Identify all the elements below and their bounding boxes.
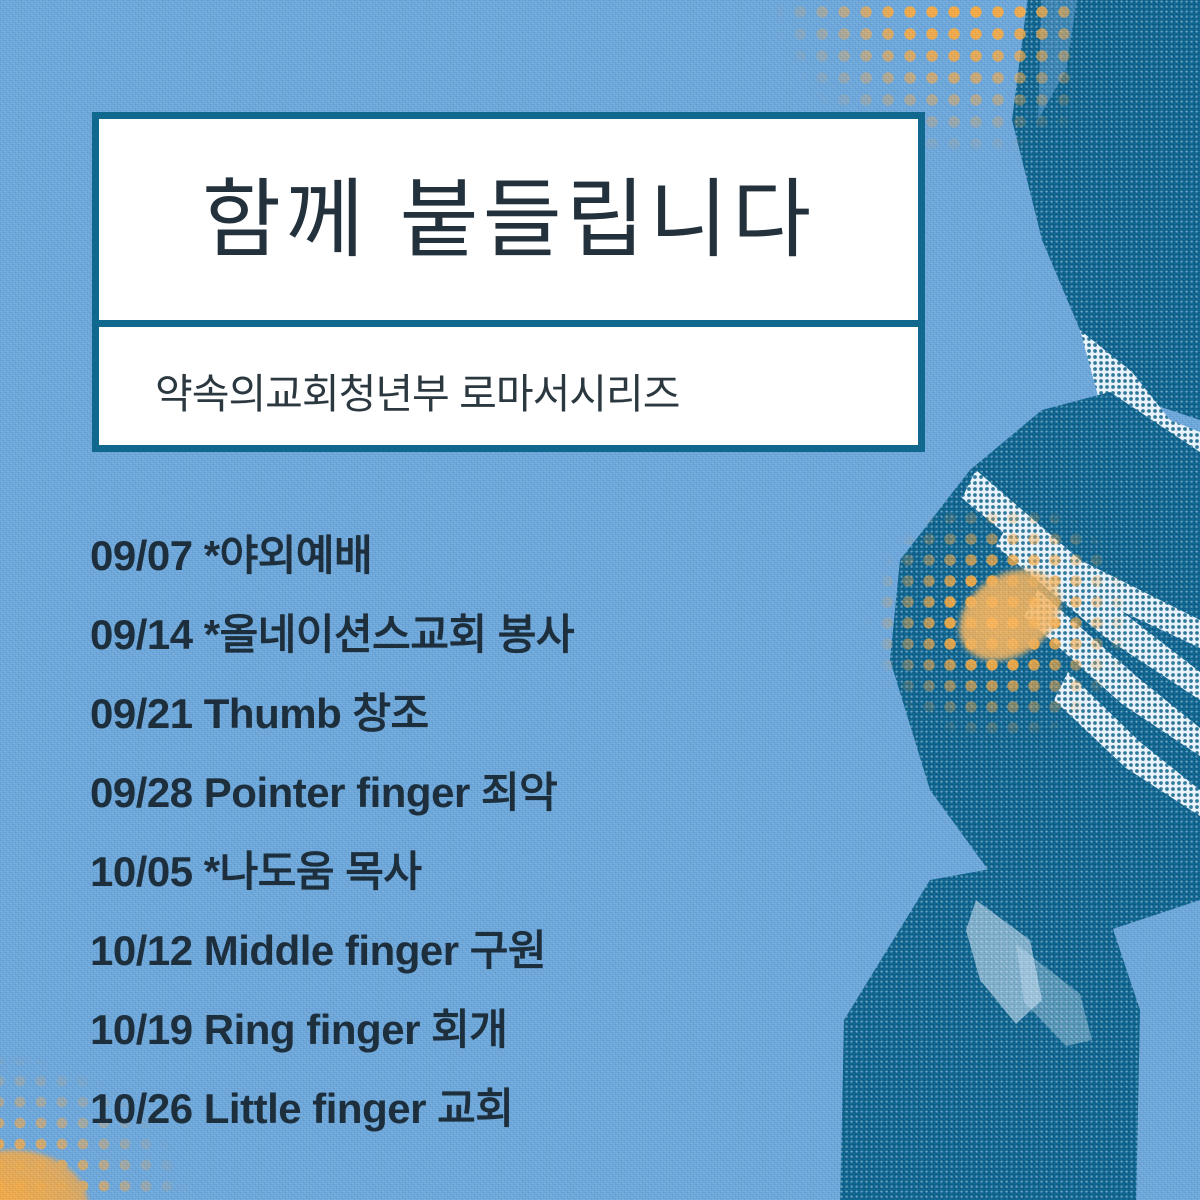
list-item: 10/19 Ring finger 회개 — [90, 990, 850, 1069]
list-item: 10/05 *나도움 목사 — [90, 832, 850, 911]
list-item: 09/14 *올네이션스교회 봉사 — [90, 595, 850, 674]
list-item: 09/21 Thumb 창조 — [90, 674, 850, 753]
page-title: 함께 붙들립니다 — [202, 177, 815, 263]
list-item: 10/12 Middle finger 구원 — [90, 911, 850, 990]
list-item: 09/28 Pointer finger 죄악 — [90, 753, 850, 832]
poster-canvas: 함께 붙들립니다 약속의교회청년부 로마서시리즈 09/07 *야외예배 09/… — [0, 0, 1200, 1200]
list-item: 10/26 Little finger 교회 — [90, 1069, 850, 1148]
page-subtitle: 약속의교회청년부 로마서시리즈 — [155, 360, 679, 420]
subtitle-row: 약속의교회청년부 로마서시리즈 — [99, 327, 918, 452]
corner-glow-core — [0, 1150, 88, 1200]
title-row: 함께 붙들립니다 — [99, 119, 918, 327]
title-frame: 함께 붙들립니다 약속의교회청년부 로마서시리즈 — [92, 112, 925, 452]
list-item: 09/07 *야외예배 — [90, 516, 850, 595]
schedule-list: 09/07 *야외예배 09/14 *올네이션스교회 봉사 09/21 Thum… — [90, 516, 850, 1148]
